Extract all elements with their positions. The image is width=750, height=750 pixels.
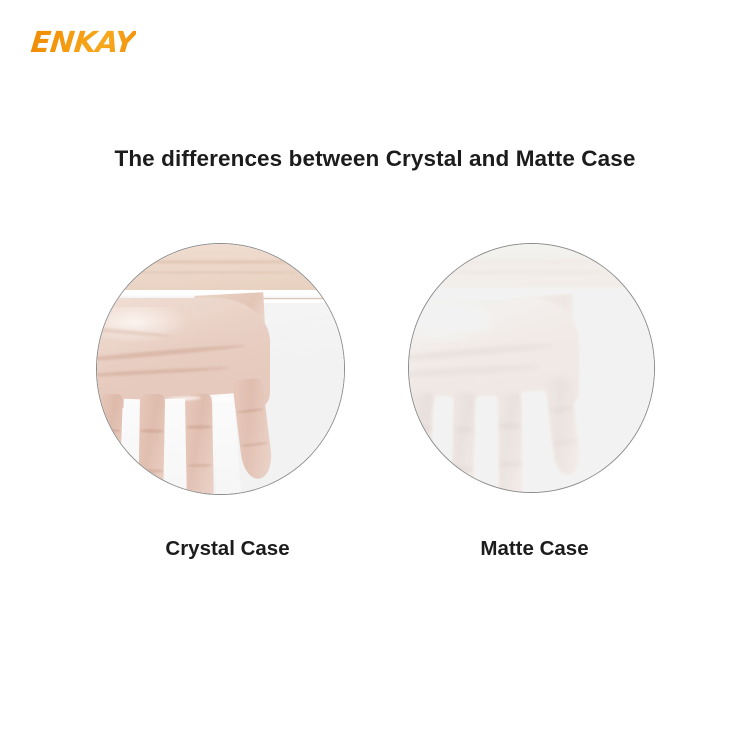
finger-gap-2 — [475, 398, 497, 492]
finger-little — [409, 392, 435, 492]
palm-crease-2 — [409, 365, 539, 377]
finger-middle — [185, 394, 214, 494]
finger-middle — [496, 393, 525, 492]
comparison-item-matte — [408, 243, 655, 493]
brand-logo: ENKAY — [29, 28, 136, 57]
matte-case-scene — [409, 244, 654, 492]
crystal-case-photo — [96, 243, 345, 495]
wrist-crease — [409, 271, 608, 273]
comparison-item-crystal — [96, 243, 345, 495]
palm-highlight — [97, 307, 191, 344]
comparison-row — [0, 243, 750, 503]
finger-gap-2 — [164, 399, 186, 494]
palm-crease-2 — [97, 366, 228, 378]
palm-crease-1 — [97, 343, 245, 363]
gloss-streak-2 — [211, 397, 233, 401]
matte-case-photo — [408, 243, 655, 493]
caption-crystal-case: Crystal Case — [103, 537, 352, 561]
crystal-case-scene — [97, 244, 344, 494]
wrist-crease — [97, 272, 298, 274]
palm-highlight — [409, 306, 502, 343]
finger-gap-1 — [432, 397, 453, 492]
finger-ring — [450, 393, 477, 492]
finger-ring — [138, 394, 165, 494]
palm-crease-1 — [409, 342, 556, 362]
page-title: The differences between Crystal and Matt… — [0, 146, 750, 172]
caption-matte-case: Matte Case — [411, 537, 658, 561]
finger-little — [97, 394, 123, 494]
